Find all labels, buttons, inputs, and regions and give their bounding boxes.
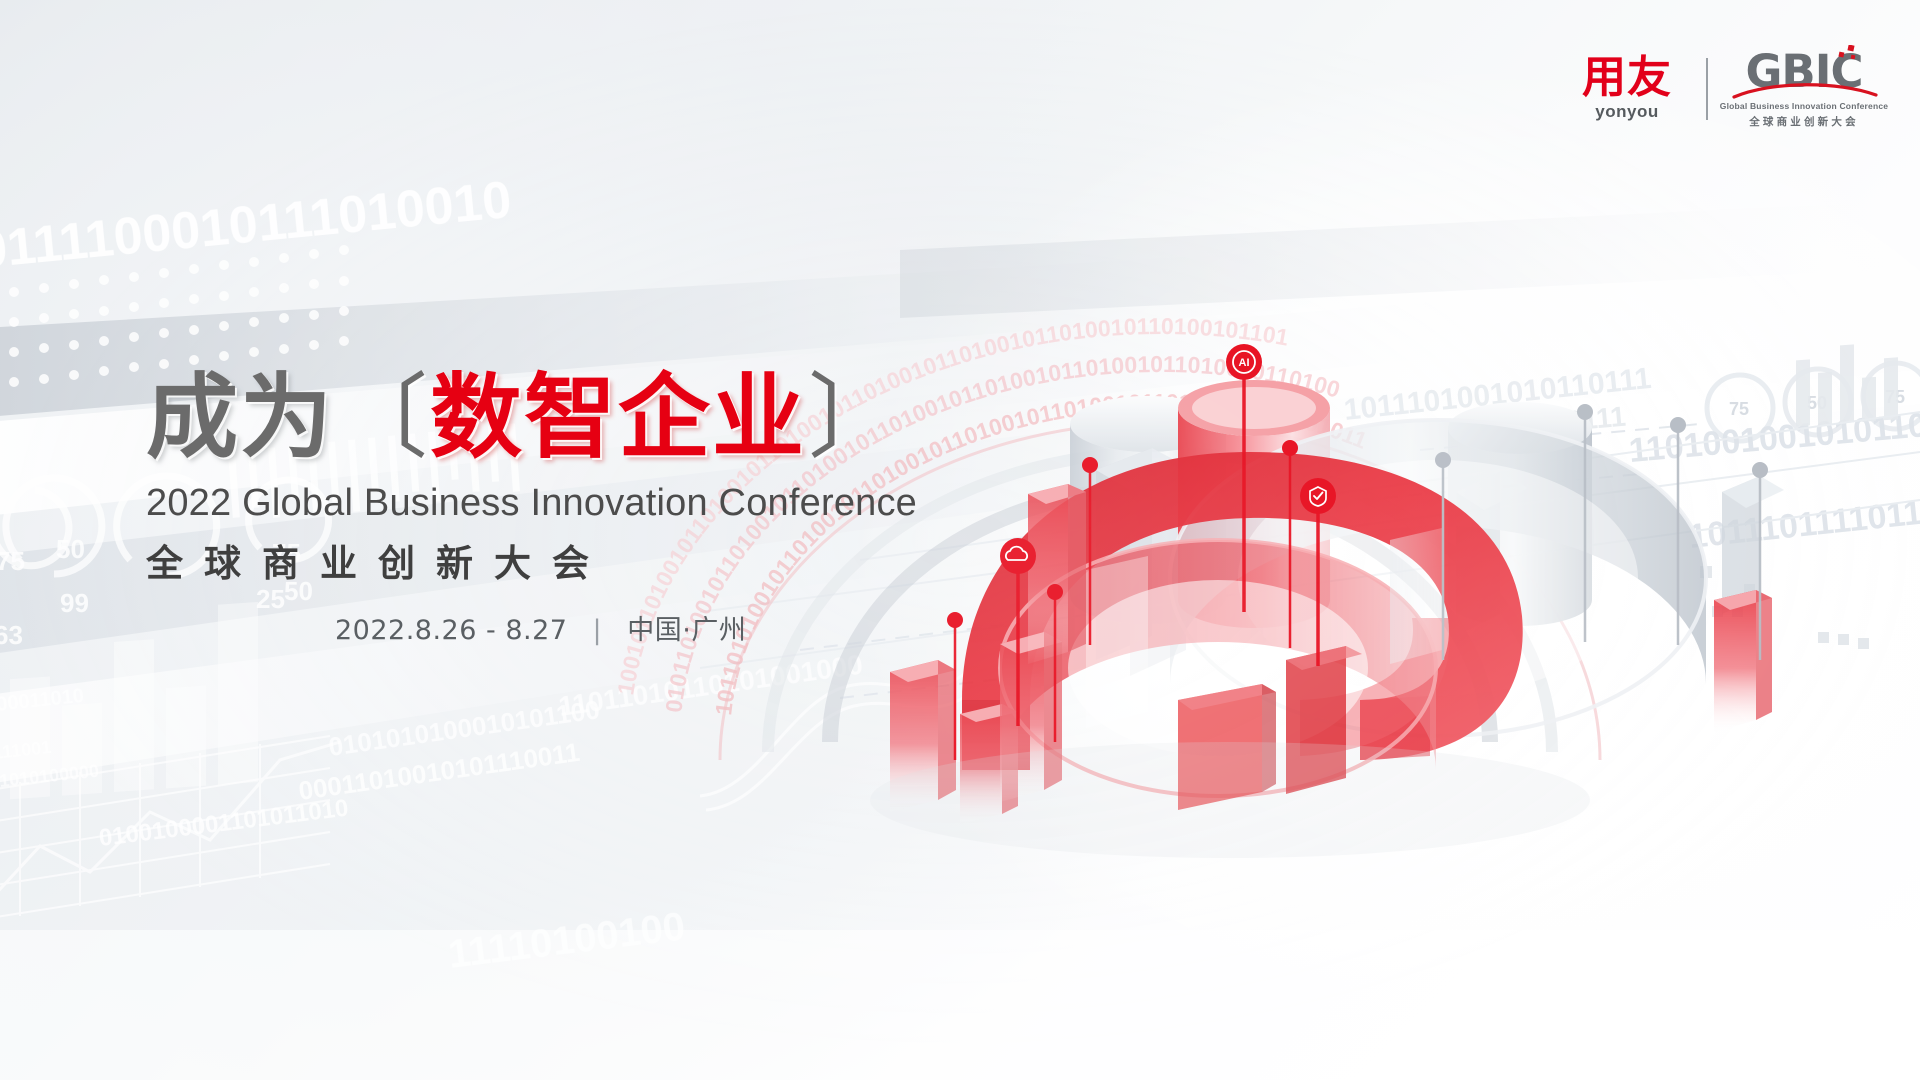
- ground-shadow: [870, 742, 1590, 858]
- svg-text:11110100100: 11110100100: [446, 904, 688, 977]
- svg-text:0111100010111010010: 0111100010111010010: [0, 171, 514, 280]
- yonyou-logo-cn: 用友: [1582, 56, 1672, 99]
- dot-pin-icon: [1047, 584, 1063, 742]
- event-date: 2022.8.26 - 8.27: [335, 615, 567, 646]
- shield-check-icon: [1300, 478, 1336, 666]
- red-bar-chart-3d: [890, 484, 1772, 824]
- ai-icon: AI: [1226, 344, 1262, 612]
- gbic-subtitle-cn: 全球商业创新大会: [1749, 114, 1859, 129]
- svg-text:000011010: 000011010: [0, 685, 85, 717]
- marker-pins: AI: [947, 344, 1768, 760]
- brand-logo-bar[interactable]: 用友 yonyou GBIC Global Business Innovatio…: [1568, 46, 1888, 132]
- dot-pin-icon: [1282, 440, 1298, 648]
- logo-divider: [1706, 58, 1708, 120]
- dot-pin-icon: [1670, 417, 1686, 645]
- subtitle-english: 2022 Global Business Innovation Conferen…: [146, 482, 946, 525]
- red-inner-ring: [1000, 540, 1436, 796]
- key-visual-canvas: 75 50 75 50 25 99 63: [0, 0, 1920, 1080]
- svg-text:99: 99: [60, 588, 89, 618]
- yonyou-logo-en: yonyou: [1595, 102, 1658, 122]
- svg-text:75: 75: [1885, 387, 1905, 407]
- svg-text:75: 75: [0, 546, 25, 576]
- main-title: 成为 〔 数智企业 〕: [146, 372, 946, 464]
- svg-text:50: 50: [56, 534, 85, 564]
- red-cylinder-tall: [1178, 380, 1330, 628]
- red-ribbon-s-curve: [962, 452, 1523, 770]
- svg-text:1011101001010110111: 1011101001010110111: [1342, 362, 1652, 427]
- gbic-logo[interactable]: GBIC Global Business Innovation Conferen…: [1728, 49, 1880, 129]
- gauge-rings-right: [1707, 363, 1920, 441]
- svg-text:10111: 10111: [1550, 401, 1627, 438]
- headline-block: 成为 〔 数智企业 〕 2022 Global Business Innovat…: [146, 372, 946, 587]
- svg-text:00011010010101110011: 00011010010101110011: [297, 737, 582, 806]
- svg-text:11011010110101001000: 11011010110101001000: [557, 649, 865, 722]
- gray-cylinder-back-left: [1070, 396, 1226, 624]
- bar-chart-left: [10, 602, 258, 799]
- bottom-fade: [0, 930, 1920, 1080]
- svg-text:110100100101011011: 110100100101011011: [1627, 403, 1920, 470]
- bar-chart-right: [1796, 344, 1898, 426]
- gray-block-c: [1722, 476, 1784, 614]
- svg-text:AI: AI: [1239, 357, 1250, 369]
- glass-blocks: [1086, 528, 1442, 810]
- svg-text:01010100000: 01010100000: [0, 761, 100, 792]
- gbic-dots-icon: [1832, 45, 1858, 67]
- cloud-icon: [1000, 538, 1036, 726]
- gauge-labels-right: 75 50 75: [1729, 387, 1905, 419]
- binary-text-right: 110100100101011011 101110111101100 10111…: [1342, 362, 1920, 556]
- svg-text:63: 63: [0, 620, 23, 650]
- line-chart-left: [0, 736, 340, 918]
- gray-block-a: [1096, 448, 1186, 676]
- bracket-open: 〔: [336, 372, 428, 464]
- gbic-swoosh-icon: [1732, 83, 1878, 99]
- svg-text:25: 25: [256, 584, 285, 614]
- svg-text:75: 75: [1729, 399, 1749, 419]
- event-meta-row: 2022.8.26 - 8.27 | 中国·广州: [335, 608, 746, 647]
- bracket-close: 〕: [808, 372, 900, 464]
- meta-separator: |: [593, 615, 603, 646]
- gray-cylinder-back-right: [1448, 402, 1592, 626]
- title-red-phrase: 数智企业: [430, 372, 806, 464]
- gray-block-b: [1456, 472, 1528, 636]
- title-gray-prefix: 成为: [146, 372, 334, 464]
- svg-text:101110111101100: 101110111101100: [1687, 490, 1920, 556]
- svg-text:0111001: 0111001: [0, 737, 52, 764]
- dot-pin-icon: [1435, 452, 1451, 660]
- pixel-squares-right: [1700, 566, 1869, 649]
- dot-pin-icon: [947, 612, 963, 760]
- yonyou-logo[interactable]: 用友 yonyou: [1568, 56, 1686, 122]
- dot-pin-icon: [1082, 457, 1098, 645]
- svg-text:0101010100010101100: 0101010100010101100: [327, 694, 602, 762]
- svg-text:50: 50: [1807, 393, 1827, 413]
- svg-text:0100100001101011010: 0100100001101011010: [97, 795, 349, 852]
- area-chart-left: [700, 598, 1106, 810]
- dot-pin-icon: [1752, 462, 1768, 660]
- event-location: 中国·广州: [627, 615, 746, 646]
- subtitle-chinese: 全球商业创新大会: [146, 533, 946, 587]
- dot-pin-icon: [1577, 404, 1593, 642]
- gray-outer-ring: [1170, 420, 1706, 736]
- gbic-subtitle-en: Global Business Innovation Conference: [1720, 101, 1888, 111]
- svg-text:10101: 10101: [1487, 489, 1562, 526]
